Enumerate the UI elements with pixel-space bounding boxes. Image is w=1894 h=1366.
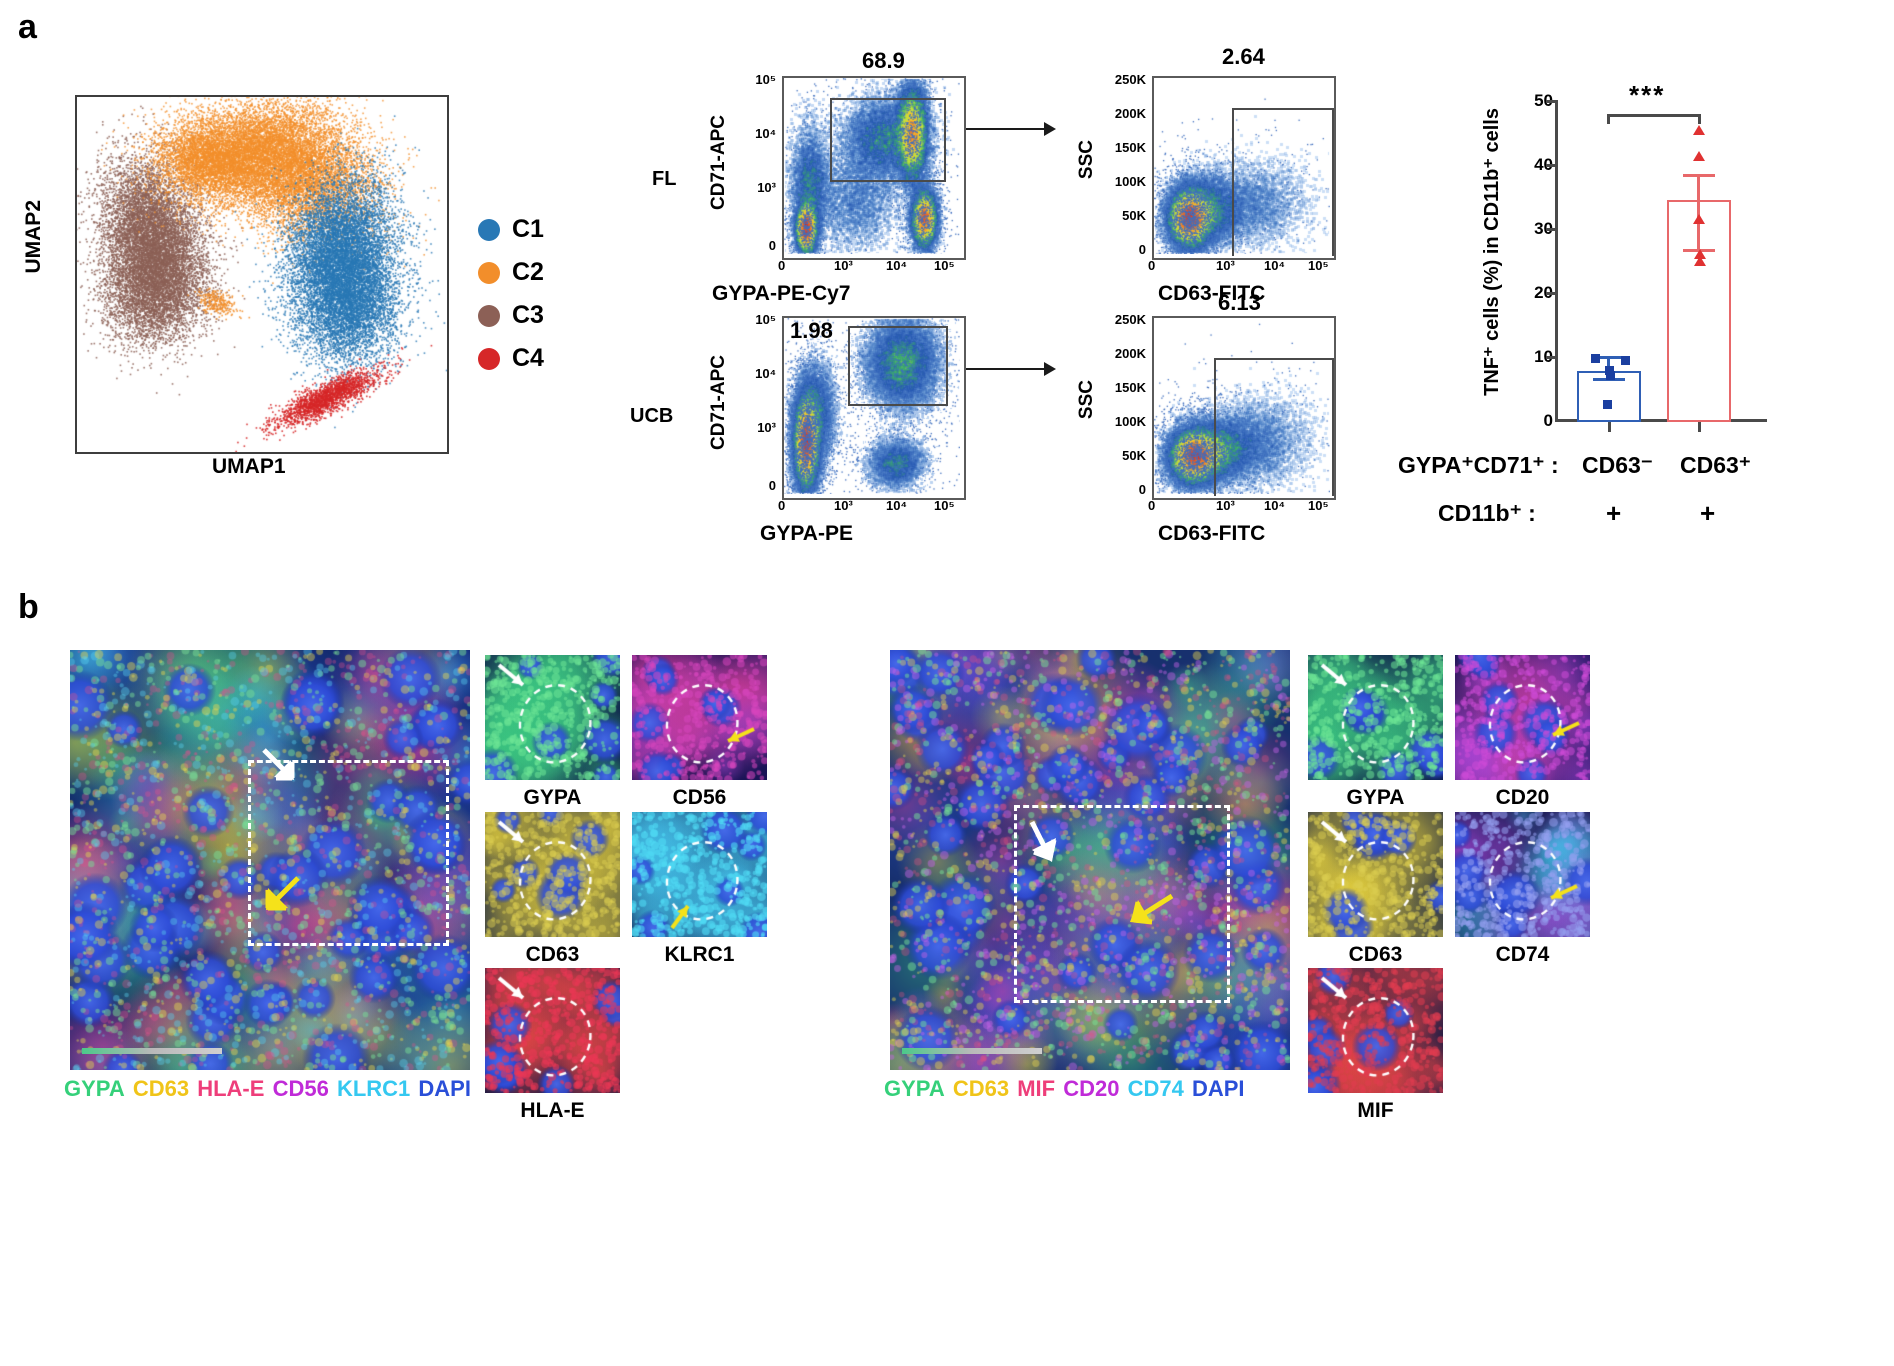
- significance-bracket-left: [1607, 114, 1610, 124]
- significance-bracket-right: [1698, 114, 1701, 124]
- micrograph-inset-gypa-right: [1308, 655, 1443, 780]
- ytick: 10⁴: [755, 126, 776, 141]
- ytick-mark: [1546, 228, 1555, 231]
- ytick: 50K: [1122, 208, 1146, 223]
- data-point: [1694, 256, 1706, 266]
- xtick: 10⁵: [1308, 258, 1329, 273]
- flow-fl-p1-xticks: 0 10³ 10⁴ 10⁵: [782, 258, 962, 276]
- inset-label-gypa-left: GYPA: [485, 786, 620, 810]
- data-point: [1591, 354, 1600, 363]
- micrograph-inset-cd63-left: [485, 812, 620, 937]
- bar-col-label-cd63-positive: CD63⁺: [1680, 452, 1751, 479]
- flow-ucb-p2-y-label: SSC: [1076, 380, 1098, 419]
- legend-item-c3: C3: [478, 301, 544, 330]
- ytick: 250K: [1115, 312, 1146, 327]
- umap-plot: [75, 95, 449, 454]
- flow-plot-fl-gypa-cd71: [782, 76, 966, 260]
- channel-legend-cd63: CD63: [133, 1076, 189, 1101]
- micrograph-right-main: [890, 650, 1290, 1070]
- legend-label-c3: C3: [512, 301, 544, 330]
- bar-chart-plot-area: ***: [1555, 100, 1770, 435]
- white-arrow-icon: [258, 744, 306, 794]
- inset-canvas: [1455, 655, 1590, 780]
- micrograph-inset-cd63-right: [1308, 812, 1443, 937]
- ytick: 0: [769, 238, 776, 253]
- data-point: [1693, 214, 1705, 224]
- ytick: 0: [1139, 242, 1146, 257]
- flow-fl-arrow-head: [1044, 122, 1056, 136]
- ytick-mark: [1546, 100, 1555, 103]
- xtick: 10³: [834, 498, 853, 513]
- legend-label-c4: C4: [512, 344, 544, 373]
- channel-legend-gypa: GYPA: [64, 1076, 125, 1101]
- panel-a-letter: a: [18, 8, 37, 47]
- inset-canvas: [1308, 968, 1443, 1093]
- ytick: 100K: [1115, 414, 1146, 429]
- legend-label-c2: C2: [512, 258, 544, 287]
- gate-rect: [848, 326, 948, 406]
- inset-canvas: [632, 655, 767, 780]
- flow-ucb-p2-x-label: CD63-FITC: [1158, 522, 1265, 546]
- data-point: [1606, 371, 1615, 380]
- ytick: 50K: [1122, 448, 1146, 463]
- bar-row-label-cd11b: CD11b⁺ :: [1438, 500, 1536, 527]
- channel-legend-cd56: CD56: [273, 1076, 329, 1101]
- flow-fl-p1-x-label: GYPA-PE-Cy7: [712, 282, 850, 306]
- ytick: 10³: [757, 420, 776, 435]
- inset-canvas: [1455, 812, 1590, 937]
- ytick: 10⁴: [755, 366, 776, 381]
- ytick-mark: [1546, 292, 1555, 295]
- ytick: 200K: [1115, 106, 1146, 121]
- ytick: 0: [1139, 482, 1146, 497]
- flow-fl-p1-gate-percent: 68.9: [862, 48, 905, 74]
- micrograph-inset-klrc1: [632, 812, 767, 937]
- flow-plot-fl-cd63-ssc: [1152, 76, 1336, 260]
- flow-fl-p2-yticks: 250K 200K 150K 100K 50K 0: [1102, 78, 1148, 258]
- gate-rect: [830, 98, 946, 182]
- flow-ucb-p2-xticks: 0 10³ 10⁴ 10⁵: [1152, 498, 1332, 516]
- umap-y-axis-label: UMAP2: [22, 200, 46, 274]
- xtick: 0: [1148, 258, 1155, 273]
- ytick-mark: [1546, 164, 1555, 167]
- gate-rect: [1214, 358, 1334, 496]
- xtick: 10⁴: [1264, 498, 1285, 513]
- xtick: 10⁵: [1308, 498, 1329, 513]
- yellow-arrow-icon: [252, 868, 304, 920]
- ytick: 0: [1544, 411, 1553, 431]
- significance-bracket-line: [1607, 114, 1701, 117]
- ytick: 10³: [757, 180, 776, 195]
- inset-label-hlae: HLA-E: [485, 1099, 620, 1123]
- legend-swatch-c3: [478, 305, 500, 327]
- micrograph-inset-cd74: [1455, 812, 1590, 937]
- bar-cd11b-value-2: +: [1700, 498, 1715, 529]
- significance-stars: ***: [1629, 80, 1665, 111]
- inset-label-cd63-left: CD63: [485, 943, 620, 967]
- legend-item-c4: C4: [478, 344, 544, 373]
- legend-swatch-c4: [478, 348, 500, 370]
- umap-scatter-canvas: [77, 97, 447, 452]
- ytick: 100K: [1115, 174, 1146, 189]
- errorbar-line-2: [1697, 174, 1700, 252]
- umap-legend: C1 C2 C3 C4: [478, 215, 544, 387]
- white-arrow-icon: [1022, 818, 1070, 872]
- flow-ucb-p2-yticks: 250K 200K 150K 100K 50K 0: [1102, 318, 1148, 498]
- ytick: 250K: [1115, 72, 1146, 87]
- flow-ucb-arrow-line: [966, 368, 1046, 370]
- legend-label-c1: C1: [512, 215, 544, 244]
- ytick-mark: [1546, 356, 1555, 359]
- channel-legend-gypa: GYPA: [884, 1076, 945, 1101]
- inset-canvas: [485, 655, 620, 780]
- data-point: [1621, 356, 1630, 365]
- bar-row-label-gypa-cd71: GYPA⁺CD71⁺ :: [1398, 452, 1559, 479]
- flow-row-label-fl: FL: [652, 168, 676, 191]
- data-point: [1603, 400, 1612, 409]
- inset-label-cd20: CD20: [1455, 786, 1590, 810]
- legend-swatch-c2: [478, 262, 500, 284]
- xtick-mark: [1608, 422, 1611, 432]
- xtick: 10⁴: [886, 498, 907, 513]
- inset-label-mif: MIF: [1308, 1099, 1443, 1123]
- inset-label-klrc1: KLRC1: [632, 943, 767, 967]
- inset-label-cd56: CD56: [632, 786, 767, 810]
- channel-legend-dapi: DAPI: [418, 1076, 471, 1101]
- flow-ucb-p1-yticks: 10⁵ 10⁴ 10³ 0: [740, 318, 778, 498]
- flow-ucb-arrow-head: [1044, 362, 1056, 376]
- xtick: 10³: [1216, 498, 1235, 513]
- flow-fl-p2-gate-percent: 2.64: [1222, 44, 1265, 70]
- ytick: 0: [769, 478, 776, 493]
- xtick: 10⁵: [934, 498, 955, 513]
- micrograph-inset-hlae: [485, 968, 620, 1093]
- channel-legend-left: GYPA CD63 HLA-E CD56 KLRC1 DAPI: [64, 1076, 473, 1102]
- micrograph-inset-cd20: [1455, 655, 1590, 780]
- inset-canvas: [1308, 812, 1443, 937]
- bar-cd11b-value-1: +: [1606, 498, 1621, 529]
- flow-fl-p1-yticks: 10⁵ 10⁴ 10³ 0: [740, 78, 778, 258]
- ytick: 200K: [1115, 346, 1146, 361]
- xtick: 10⁵: [934, 258, 955, 273]
- xtick: 10⁴: [886, 258, 907, 273]
- flow-fl-p1-y-label: CD71-APC: [708, 115, 730, 210]
- data-point: [1693, 151, 1705, 161]
- channel-legend-right: GYPA CD63 MIF CD20 CD74 DAPI: [884, 1076, 1247, 1102]
- channel-legend-klrc1: KLRC1: [337, 1076, 410, 1101]
- gate-rect: [1232, 108, 1334, 256]
- xtick: 10³: [1216, 258, 1235, 273]
- flow-row-label-ucb: UCB: [630, 405, 673, 428]
- inset-canvas: [1308, 655, 1443, 780]
- legend-item-c2: C2: [478, 258, 544, 287]
- channel-legend-mif: MIF: [1017, 1076, 1055, 1101]
- inset-canvas: [485, 812, 620, 937]
- ytick: 150K: [1115, 140, 1146, 155]
- xtick-mark: [1698, 422, 1701, 432]
- inset-label-cd63-right: CD63: [1308, 943, 1443, 967]
- xtick: 10⁴: [1264, 258, 1285, 273]
- micrograph-left-main: [70, 650, 470, 1070]
- xtick: 0: [778, 258, 785, 273]
- flow-ucb-p1-gate-percent: 1.98: [790, 318, 833, 344]
- bar-chart-y-axis-label: TNF⁺ cells (%) in CD11b⁺ cells: [1480, 108, 1504, 396]
- flow-fl-arrow-line: [966, 128, 1046, 130]
- flow-fl-p2-xticks: 0 10³ 10⁴ 10⁵: [1152, 258, 1332, 276]
- flow-fl-p2-y-label: SSC: [1076, 140, 1098, 179]
- y-axis-line: [1555, 100, 1558, 422]
- bar-col-label-cd63-negative: CD63⁻: [1582, 452, 1653, 479]
- channel-legend-cd74: CD74: [1128, 1076, 1184, 1101]
- flow-plot-ucb-cd63-ssc: [1152, 316, 1336, 500]
- flow-ucb-p1-x-label: GYPA-PE: [760, 522, 853, 546]
- inset-label-cd74: CD74: [1455, 943, 1590, 967]
- channel-legend-hlae: HLA-E: [197, 1076, 264, 1101]
- micrograph-inset-gypa-left: [485, 655, 620, 780]
- inset-canvas: [485, 968, 620, 1093]
- flow-ucb-p1-xticks: 0 10³ 10⁴ 10⁵: [782, 498, 962, 516]
- channel-legend-dapi: DAPI: [1192, 1076, 1245, 1101]
- scale-bar: [82, 1048, 222, 1054]
- ytick: 10⁵: [755, 312, 776, 327]
- panel-b-letter: b: [18, 588, 39, 627]
- umap-x-axis-label: UMAP1: [212, 455, 286, 479]
- data-point: [1693, 125, 1705, 135]
- channel-legend-cd20: CD20: [1063, 1076, 1119, 1101]
- flow-ucb-p2-gate-percent: 6.13: [1218, 290, 1261, 316]
- inset-label-gypa-right: GYPA: [1308, 786, 1443, 810]
- flow-ucb-p1-y-label: CD71-APC: [708, 355, 730, 450]
- micrograph-inset-cd56: [632, 655, 767, 780]
- xtick: 0: [778, 498, 785, 513]
- channel-legend-cd63: CD63: [953, 1076, 1009, 1101]
- legend-item-c1: C1: [478, 215, 544, 244]
- xtick: 0: [1148, 498, 1155, 513]
- yellow-arrow-icon: [1118, 890, 1176, 934]
- inset-canvas: [632, 812, 767, 937]
- ytick: 150K: [1115, 380, 1146, 395]
- errorbar-cap-top-2: [1683, 174, 1715, 177]
- xtick: 10³: [834, 258, 853, 273]
- legend-swatch-c1: [478, 219, 500, 241]
- ytick: 10⁵: [755, 72, 776, 87]
- scale-bar: [902, 1048, 1042, 1054]
- bar-chart-yticks: 50 40 30 20 10 0: [1513, 100, 1557, 440]
- micrograph-inset-mif: [1308, 968, 1443, 1093]
